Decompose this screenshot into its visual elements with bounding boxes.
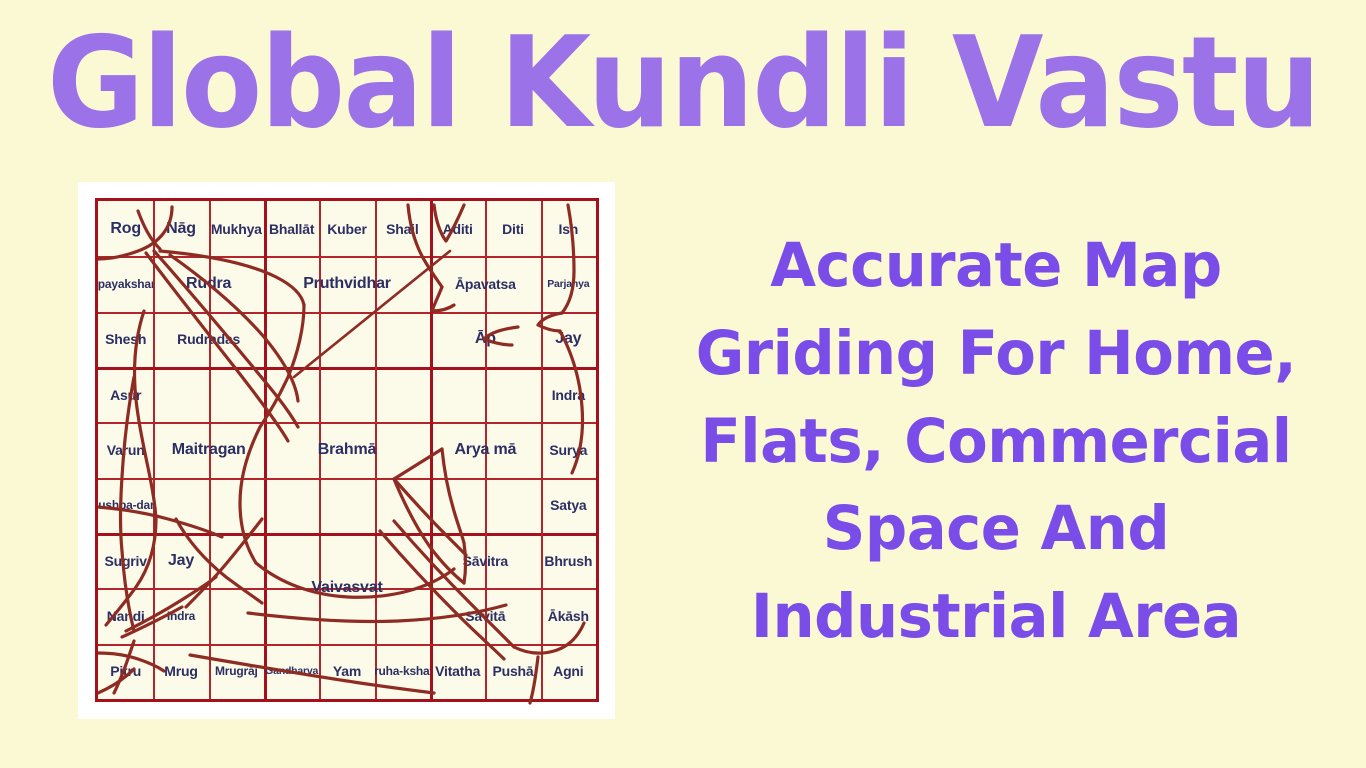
vastu-cell-label: Jay — [168, 553, 194, 569]
vastu-cell-label: Surya — [549, 443, 587, 457]
vastu-cell-rudradas[interactable]: Rudradas — [153, 312, 264, 367]
vastu-cell-label: Rudra — [186, 276, 231, 292]
vastu-cell-bhall-t[interactable]: Bhallāt — [264, 201, 319, 256]
vastu-cell-ish[interactable]: Ish — [541, 201, 596, 256]
vastu-cell-p-paya-ksham[interactable]: Pāpayakshamā — [98, 256, 153, 311]
vastu-grid: RogNāgMukhyaBhallātKuberShailAditiDitiIs… — [95, 198, 599, 702]
vastu-cell-rog[interactable]: Rog — [98, 201, 153, 256]
vastu-cell-label: Jay — [555, 331, 581, 347]
vastu-cell-label-part: dant — [136, 499, 153, 511]
vastu-cell-nandi[interactable]: Nandi — [98, 588, 153, 643]
vastu-cell-label: Rog — [110, 221, 141, 237]
vastu-cell-label: Maitragan — [172, 442, 246, 458]
vastu-cell-rudra[interactable]: Rudra — [153, 256, 264, 311]
vastu-cell-yam[interactable]: Yam — [319, 644, 374, 699]
tagline-line-2: Griding For Home, — [647, 310, 1345, 398]
tagline-block: Accurate MapGriding For Home,Flats, Comm… — [636, 222, 1356, 661]
vastu-cell-indra[interactable]: Indra — [541, 367, 596, 422]
vastu-cell-label: Shail — [386, 222, 418, 236]
vastu-cell-maitragan[interactable]: Maitragan — [153, 367, 264, 533]
vastu-cell-jay[interactable]: Jay — [153, 533, 208, 588]
vastu-cell-label: Vaivasvat — [311, 580, 382, 596]
vastu-cell-pushpa-dant[interactable]: Pushpa-dant — [98, 478, 153, 533]
vastu-cell-label: Vitatha — [435, 664, 480, 678]
vastu-cell-shail[interactable]: Shail — [375, 201, 430, 256]
vastu-cell-agni[interactable]: Agni — [541, 644, 596, 699]
tagline-line-4: Space And — [647, 485, 1345, 573]
vastu-cell-label: Rudradas — [177, 332, 240, 346]
vastu-cell-label: Kuber — [327, 222, 366, 236]
vastu-cell-label: Gandharva — [265, 666, 318, 677]
vastu-cell-sugriv[interactable]: Sugriv — [98, 533, 153, 588]
vastu-cell-aditi[interactable]: Aditi — [430, 201, 485, 256]
vastu-cell-label: Savitā — [465, 609, 505, 623]
vastu-cell-gruha-kshata[interactable]: Gruha-kshata — [375, 644, 430, 699]
vastu-cell-vaivasvat[interactable]: Vaivasvat — [264, 533, 430, 644]
vastu-cell-label: Nandi — [107, 609, 145, 623]
vastu-cell-label: Bhrush — [544, 554, 592, 568]
vastu-cell-kuber[interactable]: Kuber — [319, 201, 374, 256]
vastu-cell-asur[interactable]: Asur — [98, 367, 153, 422]
poster-canvas: Global Kundli Vastu RogNāgMukhyaBhallātK… — [0, 0, 1366, 768]
vastu-cell-pruthvidhar[interactable]: Pruthvidhar — [264, 256, 430, 311]
vastu-cell-shesh[interactable]: Shesh — [98, 312, 153, 367]
vastu-cell-mukhya[interactable]: Mukhya — [209, 201, 264, 256]
vastu-cell-label-part: Pushpa- — [98, 499, 136, 511]
vastu-cell-gandharva[interactable]: Gandharva — [264, 644, 319, 699]
vastu-cell-label: Mrugrāj — [215, 665, 258, 677]
vastu-cell-vitatha[interactable]: Vitatha — [430, 644, 485, 699]
vastu-cell-mrug[interactable]: Mrug — [153, 644, 208, 699]
vastu-cell-label: Ākāsh — [548, 609, 589, 623]
vastu-cell-k-sh[interactable]: Ākāsh — [541, 588, 596, 643]
vastu-cell-label: Parjanya — [547, 279, 589, 290]
vastu-cell-label: Pruthvidhar — [303, 276, 391, 292]
tagline-line-1: Accurate Map — [647, 222, 1345, 310]
vastu-cell-surya[interactable]: Surya — [541, 422, 596, 477]
vastu-cell-s-vitra[interactable]: Sāvitra — [430, 533, 541, 588]
vastu-cell-label: Shesh — [105, 332, 146, 346]
vastu-cell-label: Indra — [552, 388, 585, 402]
vastu-cell-p[interactable]: Āp — [430, 312, 541, 367]
vastu-cell-label: Satya — [550, 498, 586, 512]
vastu-cell-label: Varun — [107, 443, 145, 457]
vastu-cell-push[interactable]: Pushā — [485, 644, 540, 699]
vastu-cell-pavatsa[interactable]: Āpavatsa — [430, 256, 541, 311]
vastu-cell-label: Arya mā — [454, 442, 516, 458]
vastu-cell-mrugr-j[interactable]: Mrugrāj — [209, 644, 264, 699]
vastu-cell-label: Sugriv — [104, 554, 146, 568]
vastu-cell-savit[interactable]: Savitā — [430, 588, 541, 643]
vastu-cell-label-part: kshata — [403, 665, 430, 677]
vastu-cell-label: Agni — [553, 664, 583, 678]
vastu-cell-label: Asur — [110, 388, 141, 402]
vastu-cell-label: Bhallāt — [269, 222, 314, 236]
vastu-cell-label: Indra — [167, 610, 195, 622]
vastu-cell-label-part: Pāpaya — [98, 278, 124, 290]
vastu-cell-label: Pushā — [492, 664, 533, 678]
vastu-cell-label: Mukhya — [211, 222, 262, 236]
vastu-cell-pitru[interactable]: Pitru — [98, 644, 153, 699]
vastu-cell-n-g[interactable]: Nāg — [153, 201, 208, 256]
tagline-line-3: Flats, Commercial — [647, 398, 1345, 486]
tagline-line-5: Industrial Area — [647, 573, 1345, 661]
vastu-cell-arya-m[interactable]: Arya mā — [430, 367, 541, 533]
vastu-cell-varun[interactable]: Varun — [98, 422, 153, 477]
vastu-cell-label-part: kshamā — [124, 278, 153, 290]
vastu-cell-label: Pitru — [110, 664, 141, 678]
vastu-cell-diti[interactable]: Diti — [485, 201, 540, 256]
vastu-cell-label: Nāg — [166, 221, 196, 237]
vastu-cell-label: Sāvitra — [463, 554, 508, 568]
vastu-cell-parjanya[interactable]: Parjanya — [541, 256, 596, 311]
vastu-cell-label: Ish — [559, 222, 579, 236]
vastu-cell-jay[interactable]: Jay — [541, 312, 596, 367]
vastu-cell-label: Diti — [502, 222, 524, 236]
vastu-cell-label: Āpavatsa — [455, 277, 516, 291]
vastu-cell-label: Brahmā — [318, 442, 376, 458]
page-title: Global Kundli Vastu — [41, 12, 1325, 153]
vastu-cell-label: Mrug — [164, 664, 197, 678]
vastu-cell-brahm[interactable]: Brahmā — [264, 367, 430, 533]
vastu-cell-label: Yam — [333, 664, 361, 678]
vastu-cell-indra[interactable]: Indra — [153, 588, 208, 643]
vastu-cell-satya[interactable]: Satya — [541, 478, 596, 533]
vastu-cell-bhrush[interactable]: Bhrush — [541, 533, 596, 588]
vastu-cell-label: Aditi — [443, 222, 473, 236]
vastu-cell-label: Āp — [475, 331, 496, 347]
vastu-cell-label-part: Gruha- — [375, 665, 403, 677]
